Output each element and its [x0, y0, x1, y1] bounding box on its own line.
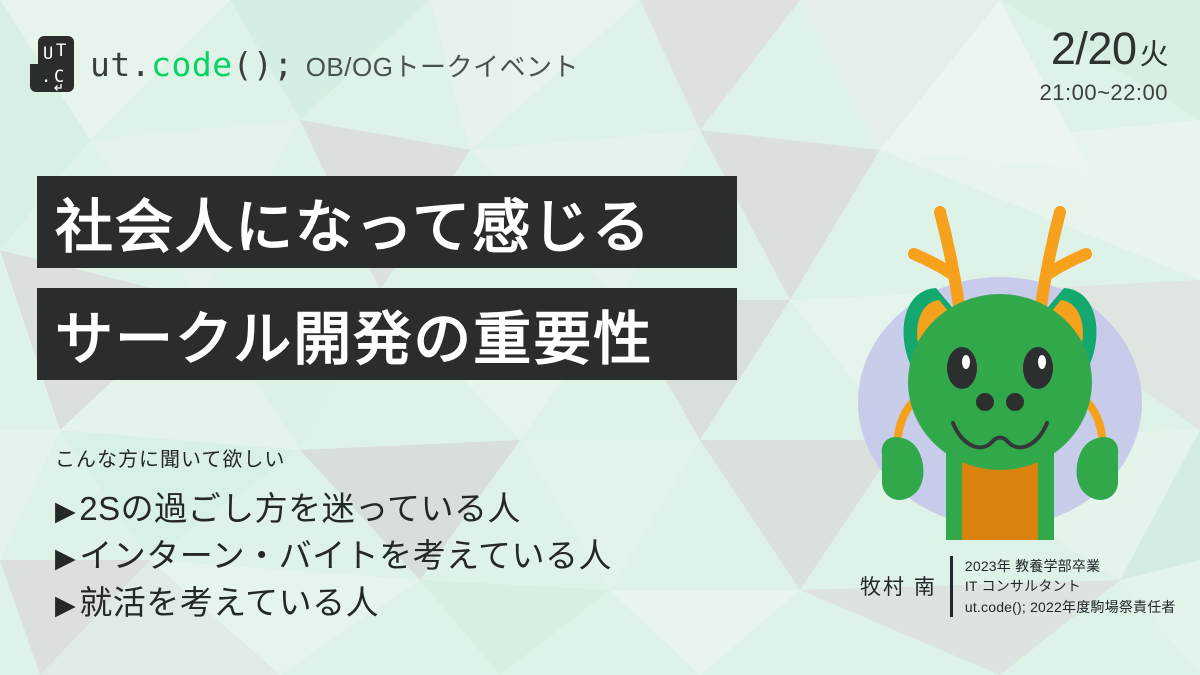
- speaker-name: 牧村 南: [860, 571, 950, 601]
- speaker-bio-line: 2023年 教養学部卒業: [965, 556, 1176, 576]
- audience-item: ▶就活を考えている人: [55, 580, 612, 627]
- speaker-bio: 2023年 教養学部卒業 IT コンサルタント ut.code(); 2022年…: [965, 556, 1176, 617]
- audience-item-label: 就活を考えている人: [79, 584, 379, 621]
- speaker-bio-line: ut.code(); 2022年度駒場祭責任者: [965, 597, 1176, 617]
- event-date: 2/20: [1051, 23, 1137, 74]
- audience-item-label: インターン・バイトを考えている人: [79, 537, 612, 574]
- title-line-1: 社会人になって感じる: [37, 176, 737, 268]
- audience-item-label: 2Sの過ごし方を迷っている人: [79, 490, 521, 527]
- svg-text:C: C: [54, 67, 64, 87]
- event-poster: U T . C ut.code(); OB/OGトークイベント 2/20火 21…: [0, 0, 1200, 675]
- audience-item: ▶2Sの過ごし方を迷っている人: [55, 486, 612, 533]
- event-weekday: 火: [1139, 39, 1168, 71]
- date-block: 2/20火 21:00~22:00: [1040, 26, 1168, 106]
- title-line-2: サークル開発の重要性: [37, 288, 737, 380]
- brand-text-parens: ();: [233, 45, 294, 84]
- audience-lead: こんな方に聞いて欲しい: [55, 443, 612, 472]
- event-time: 21:00~22:00: [1040, 80, 1168, 106]
- bullet-triangle-icon: ▶: [55, 496, 76, 526]
- speaker-block: 牧村 南 2023年 教養学部卒業 IT コンサルタント ut.code(); …: [860, 556, 1176, 617]
- dragon-mascot-icon: [840, 140, 1160, 555]
- speaker-bio-line: IT コンサルタント: [965, 576, 1176, 596]
- speaker-divider: [950, 556, 953, 617]
- brand-text-code: code: [151, 45, 232, 84]
- utcode-logo-icon: U T . C: [28, 34, 76, 94]
- svg-text:U: U: [43, 44, 53, 64]
- brand-text-ut: ut.: [90, 45, 151, 84]
- event-label: OB/OGトークイベント: [306, 47, 579, 84]
- audience-item: ▶インターン・バイトを考えている人: [55, 533, 612, 580]
- audience-block: こんな方に聞いて欲しい ▶2Sの過ごし方を迷っている人 ▶インターン・バイトを考…: [55, 443, 612, 627]
- bullet-triangle-icon: ▶: [55, 543, 76, 573]
- brand-lockup: ut.code(); OB/OGトークイベント: [90, 45, 579, 84]
- header: U T . C ut.code(); OB/OGトークイベント: [28, 34, 579, 94]
- bullet-triangle-icon: ▶: [55, 590, 76, 620]
- svg-text:.: .: [41, 67, 51, 87]
- svg-text:T: T: [56, 41, 66, 61]
